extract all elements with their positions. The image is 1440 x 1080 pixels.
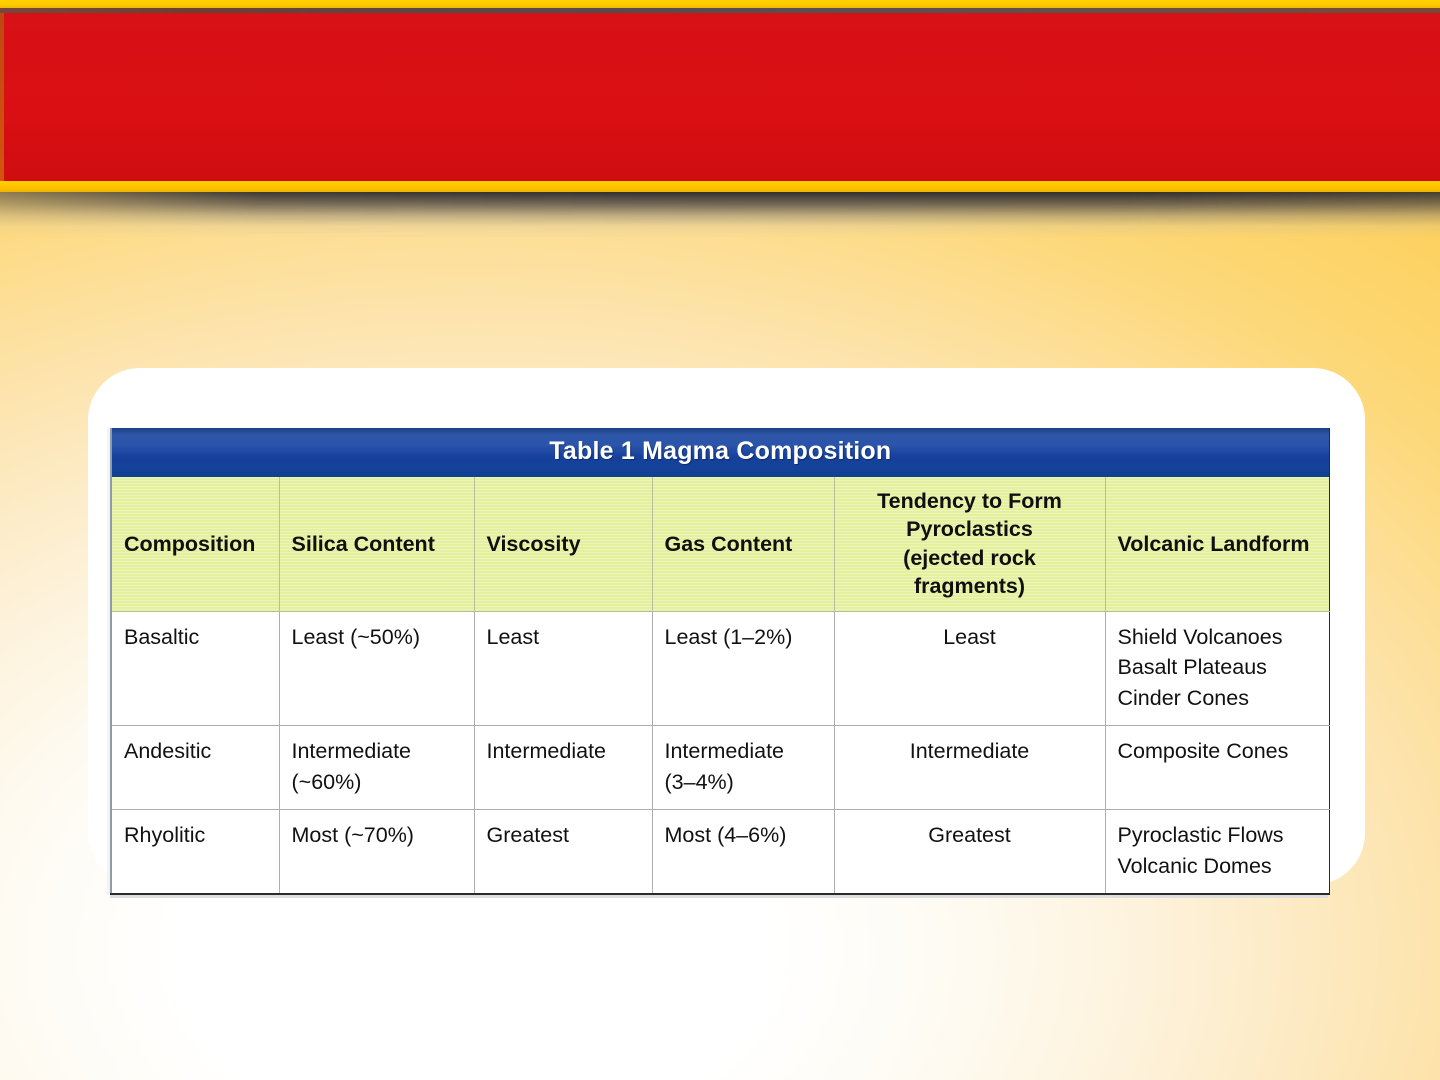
magma-composition-table: Table 1 Magma Composition Composition Si… (110, 428, 1330, 895)
cell-tendency-to-form-pyroclastics: Intermediate (834, 726, 1105, 810)
silica-line: (~60%) (292, 767, 462, 798)
cell-tendency-to-form-pyroclastics: Greatest (834, 810, 1105, 895)
cell-gas-content: Intermediate (3–4%) (652, 726, 834, 810)
column-header-tendency-to-form-pyroclastics: Tendency to Form Pyroclastics (ejected r… (834, 477, 1105, 611)
column-header-gas-content: Gas Content (652, 477, 834, 611)
table-title-row: Table 1 Magma Composition (111, 428, 1329, 477)
slide-header-band (0, 0, 1440, 193)
header-gold-bottom-stripe (0, 181, 1440, 192)
column-header-volcanic-landform: Volcanic Landform (1105, 477, 1329, 611)
cell-composition: Basaltic (111, 611, 279, 726)
column-header-composition: Composition (111, 477, 279, 611)
header-gold-top-stripe (0, 0, 1440, 8)
table-row: Rhyolitic Most (~70%) Greatest Most (4–6… (111, 810, 1329, 895)
cell-silica-content: Intermediate (~60%) (279, 726, 474, 810)
cell-volcanic-landform: Pyroclastic Flows Volcanic Domes (1105, 810, 1329, 895)
cell-composition: Andesitic (111, 726, 279, 810)
cell-viscosity: Greatest (474, 810, 652, 895)
cell-tendency-to-form-pyroclastics: Least (834, 611, 1105, 726)
magma-table-container: Table 1 Magma Composition Composition Si… (110, 428, 1328, 895)
table-column-header-row: Composition Silica Content Viscosity Gas… (111, 477, 1329, 611)
header-red-banner (0, 13, 1440, 181)
landform-line: Cinder Cones (1118, 683, 1317, 714)
gas-line: Intermediate (665, 736, 822, 767)
landform-line: Basalt Plateaus (1118, 652, 1317, 683)
header-drop-shadow (0, 192, 1440, 238)
silica-line: Intermediate (292, 736, 462, 767)
cell-silica-content: Most (~70%) (279, 810, 474, 895)
cell-viscosity: Intermediate (474, 726, 652, 810)
landform-line: Composite Cones (1118, 736, 1317, 767)
header-red-left-edge (0, 13, 4, 181)
cell-gas-content: Most (4–6%) (652, 810, 834, 895)
cell-composition: Rhyolitic (111, 810, 279, 895)
table-row: Basaltic Least (~50%) Least Least (1–2%)… (111, 611, 1329, 726)
slide: Magma Composition Table 1 Magma Composit… (0, 0, 1440, 1080)
cell-volcanic-landform: Shield Volcanoes Basalt Plateaus Cinder … (1105, 611, 1329, 726)
column-header-tendency-line-2: Pyroclastics (847, 515, 1093, 543)
landform-line: Pyroclastic Flows (1118, 820, 1317, 851)
column-header-viscosity: Viscosity (474, 477, 652, 611)
landform-line: Shield Volcanoes (1118, 622, 1317, 653)
column-header-silica-content: Silica Content (279, 477, 474, 611)
column-header-tendency-line-3: (ejected rock fragments) (847, 544, 1093, 601)
cell-silica-content: Least (~50%) (279, 611, 474, 726)
cell-gas-content: Least (1–2%) (652, 611, 834, 726)
gas-line: (3–4%) (665, 767, 822, 798)
cell-volcanic-landform: Composite Cones (1105, 726, 1329, 810)
table-row: Andesitic Intermediate (~60%) Intermedia… (111, 726, 1329, 810)
column-header-tendency-line-1: Tendency to Form (847, 487, 1093, 515)
landform-line: Volcanic Domes (1118, 851, 1317, 882)
table-title: Table 1 Magma Composition (111, 428, 1329, 477)
cell-viscosity: Least (474, 611, 652, 726)
